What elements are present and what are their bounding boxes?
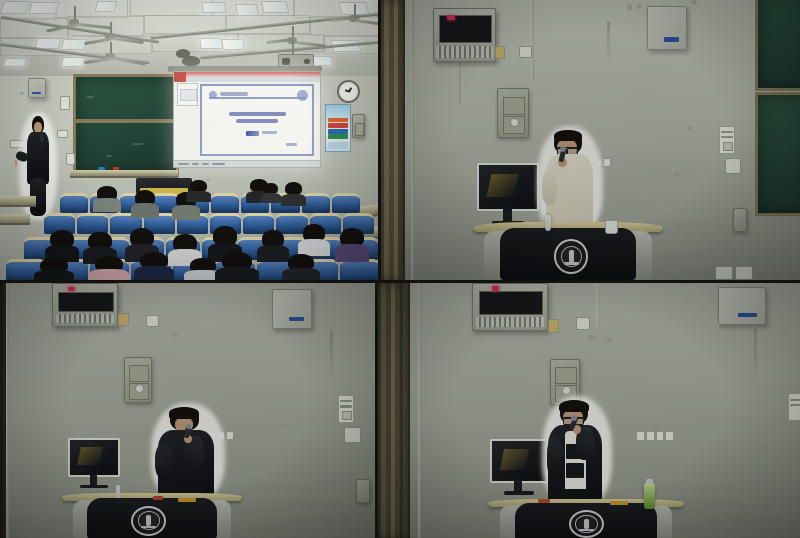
wall-socket[interactable] [66,153,75,165]
seat [211,193,239,213]
slide-thumbnail-pane[interactable] [177,83,198,106]
conduit [512,327,514,357]
chalkboard [73,74,179,177]
speaker-figure [155,407,221,499]
university-emblem [554,239,588,273]
wall-socket[interactable] [725,158,741,174]
wall-notice [719,126,735,154]
audience-member [285,182,302,206]
podium-monitor [68,438,120,488]
speaker-black-jacket-scene [0,283,375,538]
paper-cup [605,220,618,234]
wall-socket[interactable] [118,313,129,326]
wall-speaker [272,289,312,329]
safety-poster [325,104,351,152]
panel-bottom-left[interactable] [0,283,375,538]
podium-monitor [477,163,539,225]
window-curtain [381,0,405,280]
tee-graphic-line [566,463,584,478]
wall-socket[interactable] [576,317,590,330]
ceiling-light [221,39,245,50]
podium-monitor [490,439,548,495]
audience-member [97,186,117,212]
audience-member [262,230,284,262]
ceiling-light [199,38,223,49]
marker-pen [178,498,196,502]
wall-socket[interactable] [146,315,159,327]
ceiling-light [3,58,26,67]
ceiling-light [95,1,118,12]
conduit [459,60,461,106]
conduit [90,323,92,351]
seat [302,193,330,213]
ceiling-light [61,39,87,50]
ceiling-light [235,4,259,16]
ceiling-dome-speaker [182,56,200,66]
wall-junction-box [352,114,365,138]
slide-title-line-1 [229,112,286,116]
speaker-figure [546,400,608,504]
electrical-panel [433,8,496,62]
seat [60,193,88,213]
wall-socket[interactable] [344,427,361,443]
lectern [62,493,242,538]
wall-speaker [647,6,687,50]
panel-indicator-led [492,286,499,291]
chalkboard-edge [755,0,800,91]
chalk-marker [98,167,105,170]
presentation-window[interactable] [174,72,320,167]
slide-brand-mark [246,131,259,136]
ceiling-light [0,1,30,14]
wall-socket[interactable] [519,46,532,58]
os-taskbar[interactable] [174,160,320,167]
chalkboard-edge [755,92,800,216]
wall-sockets-quad[interactable] [636,431,674,441]
wall-speaker [28,78,46,98]
lectern [473,222,663,280]
wall-socket[interactable] [715,266,733,280]
wall-pipe [6,283,9,538]
audience-member [40,258,68,280]
side-desk [0,196,36,207]
panel-indicator-led [447,16,455,20]
panel-indicator-led [68,287,75,291]
window-curtain [378,283,410,538]
audience-member [288,254,314,280]
university-emblem [131,506,166,536]
panel-bottom-right[interactable] [378,283,800,538]
university-emblem [569,510,604,538]
panel-top-right[interactable] [381,0,800,280]
marker-pen [610,501,628,505]
wall-pipe [596,283,599,327]
wall-junction-box [497,88,529,138]
side-desk [0,214,30,225]
wall-junction-box [124,357,152,403]
wall-clock [337,80,360,103]
wall-junction-box [733,208,747,232]
wall-junction-box [356,479,370,503]
chalk-tray [70,170,178,178]
photo-collage [0,0,800,538]
marker-pen [116,485,120,498]
speaker-graphic-tee-scene [378,283,800,538]
wall-pipe [418,283,421,538]
wall-socket[interactable] [60,96,70,110]
wall-speaker [718,287,766,325]
slide-canvas [200,84,314,155]
projection-screen[interactable] [173,71,321,168]
audience-member [222,252,252,280]
audience-member [303,224,325,256]
wall-socket[interactable] [495,46,505,59]
speaker-cream-hoodie-scene [381,0,800,280]
wall-socket[interactable] [548,319,559,333]
electrical-panel [472,283,548,331]
audience-member [190,258,216,280]
electrical-panel [52,283,118,327]
wall-socket[interactable] [57,130,68,138]
panel-top-left[interactable] [0,0,378,280]
wall-socket[interactable] [735,266,753,280]
green-drink-bottle [644,483,655,509]
audience-member [190,180,207,202]
water-bottle [545,215,551,231]
marker-pen [153,496,163,500]
audience-member [140,252,168,280]
ceiling-light [61,57,85,67]
marker-pen [538,499,550,503]
microphone [40,132,44,142]
slide-corner-logo [297,90,308,101]
wall-pipe [411,0,414,280]
audience-member [135,190,155,218]
app-ribbon [174,72,320,82]
slide-title-line-2 [236,119,278,123]
ceiling-light [201,2,227,13]
ceiling [0,0,378,76]
audience-member [264,183,278,203]
ceiling-light [261,1,290,13]
audience-member [340,228,364,262]
wall-notice [788,393,800,421]
seat [340,259,378,280]
wall-notice [338,395,354,423]
seat [77,213,108,234]
lecture-hall-wide-scene [0,0,378,280]
chalk-marker [113,167,119,170]
wall-pipe [531,0,534,80]
ceiling-light [28,2,60,14]
audience-member [95,256,123,280]
seat [332,193,360,213]
